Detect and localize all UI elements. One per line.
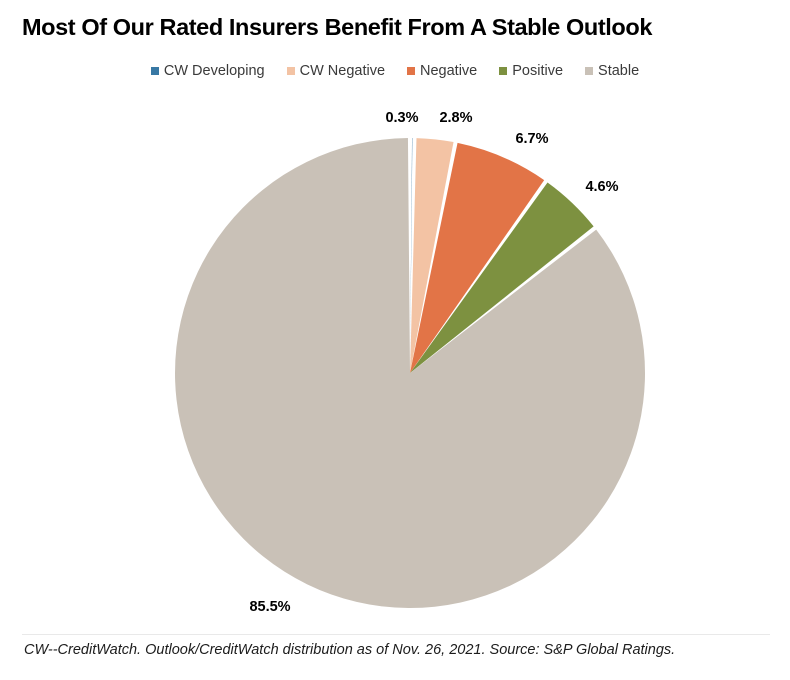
pie-slice[interactable] <box>410 182 594 373</box>
pie-data-label: 2.8% <box>439 110 472 126</box>
pie-chart-svg: 0.3% 2.8% 6.7% 4.6% 85.5% <box>0 0 790 680</box>
legend-swatch-icon <box>287 67 295 75</box>
pie-data-label: 0.3% <box>385 110 418 126</box>
legend-item-label: CW Developing <box>164 62 265 80</box>
pie-slice[interactable] <box>410 138 412 373</box>
legend-swatch-icon <box>585 67 593 75</box>
pie-slice[interactable] <box>410 138 454 373</box>
legend-swatch-icon <box>407 67 415 75</box>
legend-item-negative[interactable]: Negative <box>407 62 477 80</box>
pie-slices-group <box>175 138 645 608</box>
legend-item-cw-developing[interactable]: CW Developing <box>151 62 265 80</box>
page-title: Most Of Our Rated Insurers Benefit From … <box>22 12 772 42</box>
chart-legend: CW Developing CW Negative Negative Posit… <box>0 62 790 80</box>
legend-item-stable[interactable]: Stable <box>585 62 639 80</box>
legend-item-label: Positive <box>512 62 563 80</box>
legend-swatch-icon <box>499 67 507 75</box>
legend-item-cw-negative[interactable]: CW Negative <box>287 62 385 80</box>
pie-data-label: 85.5% <box>249 599 290 615</box>
pie-data-label: 4.6% <box>585 179 618 195</box>
footnote-divider <box>22 634 770 635</box>
legend-item-label: Negative <box>420 62 477 80</box>
pie-data-label: 6.7% <box>515 131 548 147</box>
pie-data-labels-group: 0.3% 2.8% 6.7% 4.6% 85.5% <box>249 110 618 615</box>
legend-swatch-icon <box>151 67 159 75</box>
pie-slice[interactable] <box>175 138 645 608</box>
legend-item-label: CW Negative <box>300 62 385 80</box>
footnote-text: CW--CreditWatch. Outlook/CreditWatch dis… <box>24 640 784 660</box>
legend-item-label: Stable <box>598 62 639 80</box>
pie-slice[interactable] <box>410 143 544 373</box>
legend-item-positive[interactable]: Positive <box>499 62 563 80</box>
pie-chart-area: 0.3% 2.8% 6.7% 4.6% 85.5% <box>0 0 790 680</box>
